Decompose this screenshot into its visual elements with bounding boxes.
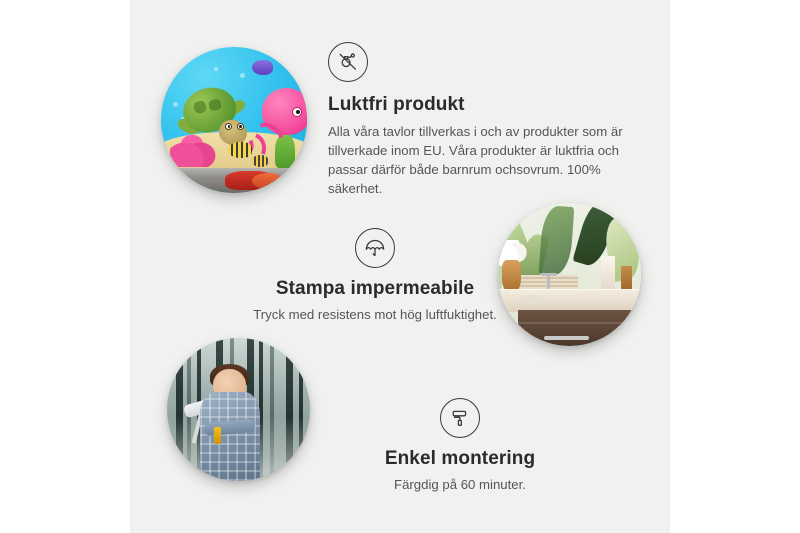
turtle-eye (237, 123, 244, 130)
feature-body: Alla våra tavlor tillverkas i och av pro… (328, 122, 628, 199)
image-forest-wallpaper-installer (167, 338, 310, 481)
umbrella-icon (355, 228, 395, 268)
handheld-tool (214, 427, 221, 444)
faucet (547, 273, 550, 289)
image-sea-life-mural (161, 47, 307, 193)
sea-life-illustration (161, 47, 307, 193)
cabinet-seam (518, 322, 641, 324)
fish-striped (228, 142, 251, 158)
feature-title: Enkel montering (330, 448, 590, 470)
crab (252, 173, 284, 189)
no-scent-spray-bottle-icon (328, 42, 368, 82)
octopus-eye (292, 107, 302, 117)
woman-plaid-shirt (200, 392, 260, 481)
screenshot-root: Luktfri produkt Alla våra tavlor tillver… (0, 0, 800, 533)
fish-striped (252, 155, 268, 167)
feature-title: Luktfri produkt (328, 94, 628, 116)
door-handle (630, 322, 634, 343)
feature-odourless: Luktfri produkt Alla våra tavlor tillver… (328, 42, 628, 199)
feature-waterproof: Stampa impermeabile Tryck med resistens … (225, 228, 525, 324)
coral (170, 129, 220, 167)
plaid-pattern (200, 392, 260, 481)
soap-dish (524, 295, 545, 304)
vanity-cabinet (518, 310, 641, 346)
feature-easy-mounting: Enkel montering Färgdig på 60 minuter. (330, 398, 590, 494)
feature-body: Färgdig på 60 minuter. (330, 475, 590, 494)
feature-body: Tryck med resistens mot hög luftfuktighe… (225, 305, 525, 324)
feature-title: Stampa impermeabile (225, 278, 525, 300)
installer-photo (167, 338, 310, 481)
fish-purple (252, 60, 274, 75)
drawer-handle (544, 336, 589, 340)
paint-roller-icon (440, 398, 480, 438)
toiletry-bottle (601, 256, 615, 293)
